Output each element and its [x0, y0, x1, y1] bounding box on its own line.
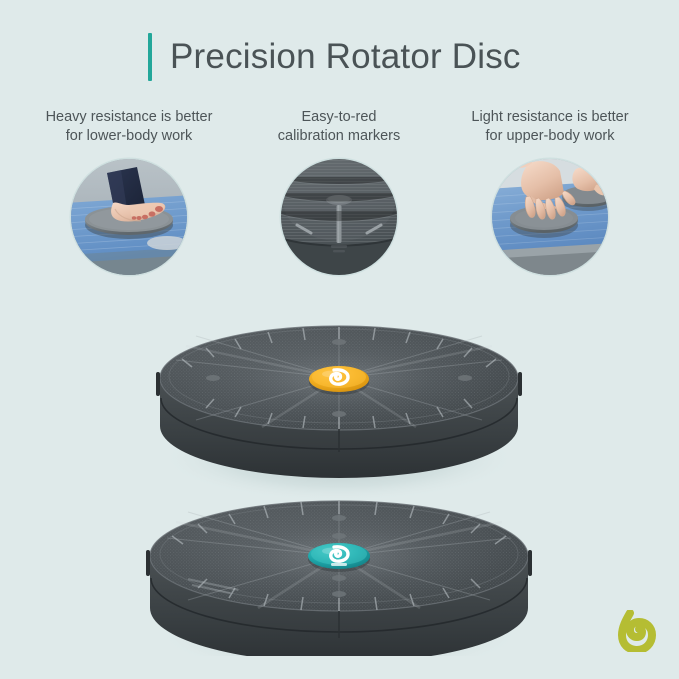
calibration-markers-closeup-photo: [281, 159, 397, 275]
feature-caption: Easy-to-red calibration markers: [226, 108, 452, 146]
product-infographic: Precision Rotator Disc Heavy resistance …: [0, 0, 679, 679]
upper-rotator-disc: [158, 326, 520, 502]
feature-caption-line-2: for lower-body work: [66, 128, 193, 144]
hands-on-discs-photo: [492, 159, 608, 275]
brand-b-logo: [618, 610, 656, 652]
product-disc-illustration: [0, 286, 679, 656]
page-title-text: Precision Rotator Disc: [170, 37, 521, 77]
feature-caption: Heavy resistance is better for lower-bod…: [16, 108, 242, 146]
lower-rotator-disc: [148, 501, 530, 656]
feature-caption: Light resistance is better for upper-bod…: [437, 108, 663, 146]
title-accent-bar: [148, 33, 152, 81]
feature-caption-line-1: Light resistance is better: [471, 109, 628, 125]
feature-item-calibration: Easy-to-red calibration markers: [226, 108, 452, 275]
feature-caption-line-2: calibration markers: [278, 128, 401, 144]
foot-on-disc-photo: [71, 159, 187, 275]
page-title: Precision Rotator Disc: [148, 33, 521, 81]
feature-caption-line-2: for upper-body work: [486, 128, 615, 144]
feature-caption-line-1: Easy-to-red: [302, 109, 377, 125]
feature-item-upper-body: Light resistance is better for upper-bod…: [437, 108, 663, 275]
feature-caption-line-1: Heavy resistance is better: [46, 109, 213, 125]
feature-item-lower-body: Heavy resistance is better for lower-bod…: [16, 108, 242, 275]
